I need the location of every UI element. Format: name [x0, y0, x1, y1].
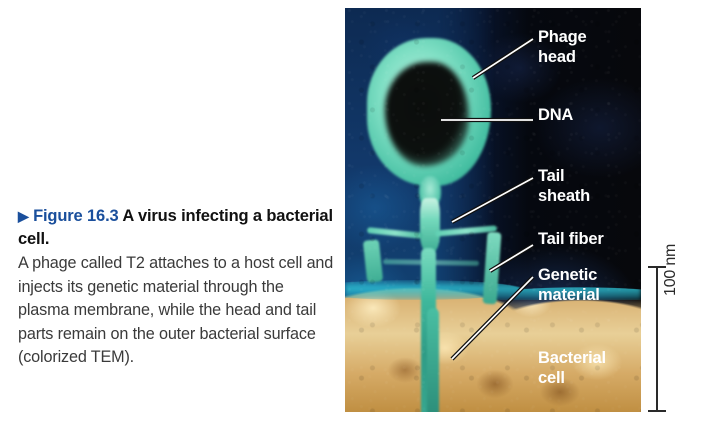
- caption-arrow-icon: ▶: [18, 208, 29, 224]
- callout-label-dna: DNA: [538, 105, 573, 125]
- figure-page: ▶ Figure 16.3 A virus infecting a bacter…: [0, 0, 709, 428]
- figure-body-text: A phage called T2 attaches to a host cel…: [18, 252, 336, 370]
- scale-bar-label: 100 nm: [662, 244, 680, 296]
- scale-bar-bottom-cap: [648, 410, 666, 412]
- callout-label-bacterial-cell: Bacterial cell: [538, 348, 606, 388]
- scale-bar-line: [656, 266, 658, 412]
- callout-label-tail-sheath: Tail sheath: [538, 166, 590, 206]
- figure-caption-heading: ▶ Figure 16.3 A virus infecting a bacter…: [18, 205, 336, 251]
- callout-label-phage-head: Phage head: [538, 27, 587, 67]
- callout-label-genetic-material: Genetic material: [538, 265, 600, 305]
- figure-caption: ▶ Figure 16.3 A virus infecting a bacter…: [18, 205, 336, 370]
- figure-number: Figure 16.3: [33, 207, 118, 225]
- callout-label-tail-fiber: Tail fiber: [538, 229, 604, 249]
